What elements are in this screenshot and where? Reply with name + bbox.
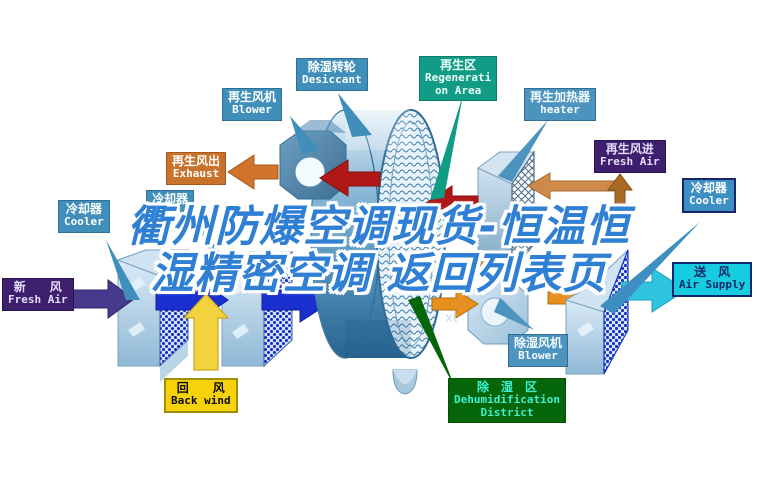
label-cooler-left: 冷却器 Cooler	[58, 200, 110, 233]
label-regen-area-en: Regenerati	[425, 72, 491, 84]
exhaust-arrow	[228, 155, 278, 189]
label-fresh-air: 新 风 Fresh Air	[2, 278, 74, 311]
dehumidifier-schematic: xt	[0, 0, 757, 488]
label-back-wind: 回 风 Back wind	[164, 378, 238, 413]
label-back-wind-en: Back wind	[171, 395, 231, 407]
label-cooler-right-cn: 冷却器	[689, 182, 729, 195]
watermark-text: xt	[445, 311, 458, 326]
label-regen-area-cn: 再生区	[425, 59, 491, 72]
label-dehum-district-en2: District	[454, 407, 560, 419]
label-cooler-mid: 冷却器	[146, 190, 194, 215]
label-air-supply-en: Air Supply	[679, 279, 745, 291]
label-regen-blower: 再生风机 Blower	[222, 88, 282, 121]
label-dehum-district: 除 湿 区 Dehumidification District	[448, 378, 566, 423]
label-cooler-right-en: Cooler	[689, 195, 729, 207]
label-regen-area-en2: on Area	[425, 85, 491, 97]
label-dehum-blower-cn: 除湿风机	[514, 337, 562, 350]
label-regen-fresh-air-en: Fresh Air	[600, 156, 660, 168]
label-regen-heater-en: heater	[530, 104, 590, 116]
regen-intake-arrow	[528, 173, 622, 199]
label-regen-blower-en: Blower	[228, 104, 276, 116]
label-cooler-right: 冷却器 Cooler	[682, 178, 736, 213]
label-desiccant-rotor: 除湿转轮 Desiccant	[296, 58, 368, 91]
label-fresh-air-en: Fresh Air	[8, 294, 68, 306]
label-exhaust: 再生风出 Exhaust	[166, 152, 226, 185]
label-desiccant-rotor-en: Desiccant	[302, 74, 362, 86]
label-dehum-district-en: Dehumidification	[454, 394, 560, 406]
label-regen-fresh-air: 再生风进 Fresh Air	[594, 140, 666, 173]
label-fresh-air-cn: 新 风	[8, 281, 68, 294]
label-air-supply-cn: 送 风	[679, 266, 745, 279]
label-dehum-blower-en: Blower	[514, 350, 562, 362]
label-regen-blower-cn: 再生风机	[228, 91, 276, 104]
label-exhaust-cn: 再生风出	[172, 155, 220, 168]
label-cooler-mid-cn: 冷却器	[152, 193, 188, 206]
label-desiccant-rotor-cn: 除湿转轮	[302, 61, 362, 74]
diagram-canvas: xt 除湿转轮 Desiccant 再生风机 Blower 再生区 Regene…	[0, 0, 757, 488]
label-regen-area: 再生区 Regenerati on Area	[419, 56, 497, 101]
cooler-unit-left	[118, 250, 188, 382]
supply-coil-unit	[566, 250, 628, 374]
label-back-wind-cn: 回 风	[171, 382, 231, 395]
label-cooler-left-cn: 冷却器	[64, 203, 104, 216]
label-exhaust-en: Exhaust	[172, 168, 220, 180]
label-regen-heater: 再生加热器 heater	[524, 88, 596, 121]
label-air-supply: 送 风 Air Supply	[672, 262, 752, 297]
label-regen-fresh-air-cn: 再生风进	[600, 143, 660, 156]
label-cooler-left-en: Cooler	[64, 216, 104, 228]
label-regen-heater-cn: 再生加热器	[530, 91, 590, 104]
label-dehum-district-cn: 除 湿 区	[454, 381, 560, 394]
label-dehum-blower: 除湿风机 Blower	[508, 334, 568, 367]
